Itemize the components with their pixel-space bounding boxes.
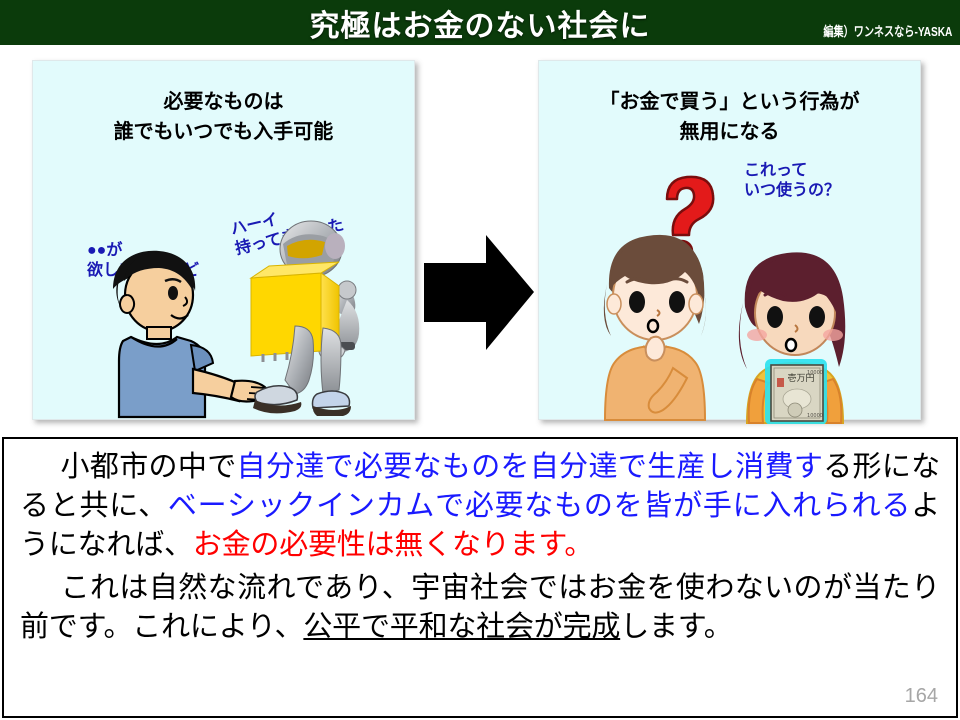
robot-figure-icon xyxy=(243,216,413,421)
p1-seg2: 自分達で必要なものを自分達で生産し消費す xyxy=(237,451,824,483)
slide-root: 究極はお金のない社会に 編集）ワンネスなら-YASKA 必要なものは 誰でもいつ… xyxy=(0,0,960,720)
panel-right: 「お金で買う」という行為が 無用になる これって いつ使うの？ xyxy=(538,60,921,420)
p2-seg2-underlined: 公平で平和な社会が完成 xyxy=(303,611,620,643)
paragraph-1: 小都市の中で自分達で必要なものを自分達で生産し消費する形になると共に、ベーシック… xyxy=(20,448,940,565)
p1-seg6: お金の必要性は無くなります。 xyxy=(193,529,593,561)
body-text-box: 小都市の中で自分達で必要なものを自分達で生産し消費する形になると共に、ベーシック… xyxy=(2,437,958,718)
page-number: 164 xyxy=(905,685,938,708)
panel-left-heading: 必要なものは 誰でもいつでも入手可能 xyxy=(33,87,414,147)
panel-right-heading: 「お金で買う」という行為が 無用になる xyxy=(539,87,920,147)
panel-left: 必要なものは 誰でもいつでも入手可能 ●●が 欲しいんだけど ハーイ 持ってきま… xyxy=(32,60,415,420)
woman-thinking-figure-icon xyxy=(591,226,741,421)
paragraph-2: これは自然な流れであり、宇宙社会ではお金を使わないのが当たり前です。これにより、… xyxy=(20,569,940,647)
right-arrow-icon xyxy=(424,235,534,350)
woman-banknote-figure-icon: 壱万円 10000 10000 xyxy=(731,249,871,424)
p2-seg3: します。 xyxy=(620,611,732,643)
callout-woman-question: これって いつ使うの？ xyxy=(744,161,840,201)
p1-seg4: ベーシックインカムで必要なものを皆が手に入れられる xyxy=(168,490,911,522)
svg-text:10000: 10000 xyxy=(807,370,823,376)
editor-credit: 編集）ワンネスなら-YASKA xyxy=(823,21,952,40)
man-figure-icon xyxy=(79,241,269,421)
title-bar: 究極はお金のない社会に 編集）ワンネスなら-YASKA xyxy=(0,0,960,45)
page-title: 究極はお金のない社会に xyxy=(0,0,960,45)
illustration-area: 必要なものは 誰でもいつでも入手可能 ●●が 欲しいんだけど ハーイ 持ってきま… xyxy=(0,45,960,437)
svg-text:10000: 10000 xyxy=(807,413,823,419)
banknote: 壱万円 10000 10000 xyxy=(771,365,823,421)
p1-seg1: 小都市の中で xyxy=(60,451,237,483)
